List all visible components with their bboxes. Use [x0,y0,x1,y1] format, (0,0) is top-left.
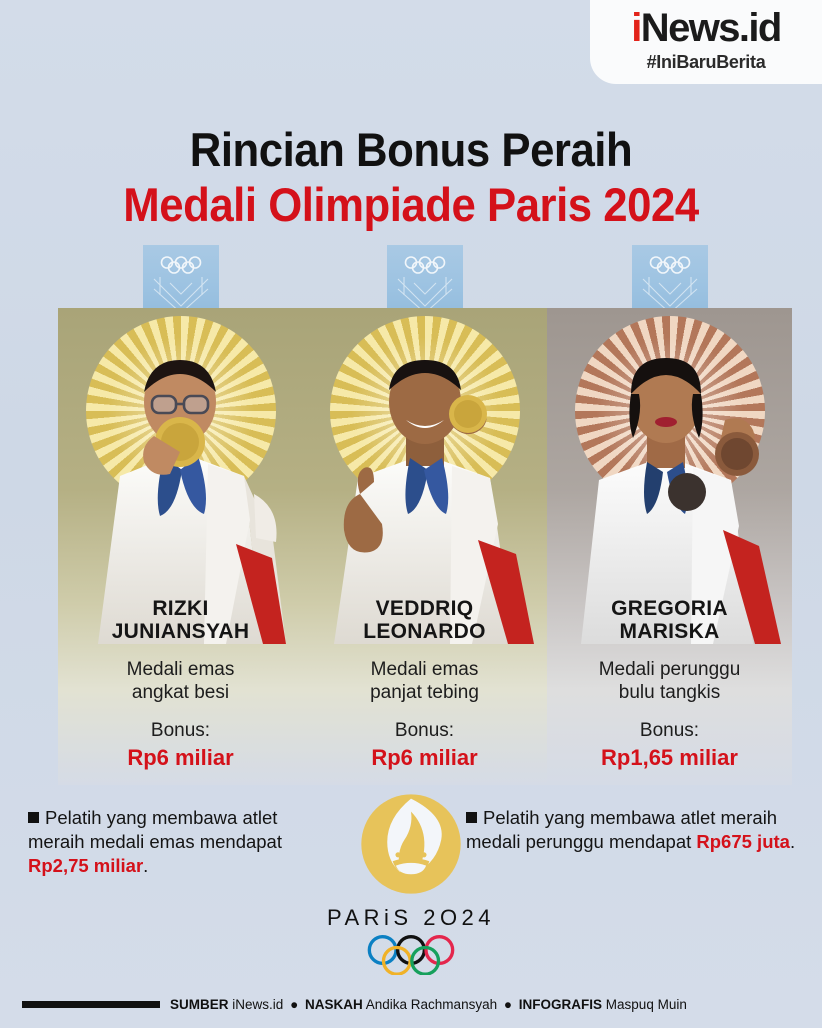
page-title: Rincian Bonus Peraih Medali Olimpiade Pa… [0,126,822,230]
olympic-rings-icon [398,255,452,275]
olympic-ribbon [632,245,708,317]
source-value: iNews.id [232,997,283,1012]
designer-value: Maspuq Muin [606,997,687,1012]
note-period: . [790,831,795,852]
bonus-label: Bonus: [547,720,792,742]
olympic-ribbon [143,245,219,317]
athlete-name: VEDDRIQ LEONARDO [302,598,547,643]
card-body: GREGORIA MARISKA Medali perunggu bulu ta… [547,308,792,785]
writer-label: NASKAH [305,997,363,1012]
bonus-value: Rp6 miliar [58,745,303,771]
card-body: RIZKI JUNIANSYAH Medali emas angkat besi… [58,308,303,785]
logo-name-rest: News.id [641,6,781,50]
medal-description: Medali emas panjat tebing [302,658,547,704]
bonus-label: Bonus: [58,720,303,742]
coach-bonus-note-gold: Pelatih yang membawa atlet meraih medali… [28,806,328,878]
bonus-value: Rp6 miliar [302,745,547,771]
athlete-card: RIZKI JUNIANSYAH Medali emas angkat besi… [58,245,303,785]
card-body: VEDDRIQ LEONARDO Medali emas panjat tebi… [302,308,547,785]
bullet-square-icon [28,812,39,823]
olympic-rings-icon [359,935,463,975]
card-text: RIZKI JUNIANSYAH Medali emas angkat besi… [58,598,303,771]
paris-2024-emblem: PARiS 2O24 [316,790,506,980]
writer-value: Andika Rachmansyah [366,997,497,1012]
card-text: GREGORIA MARISKA Medali perunggu bulu ta… [547,598,792,771]
logo-i-letter: i [631,6,641,50]
separator-dot: ● [501,997,515,1012]
title-line-1: Rincian Bonus Peraih [29,126,793,175]
card-text: VEDDRIQ LEONARDO Medali emas panjat tebi… [302,598,547,771]
title-line-2: Medali Olimpiade Paris 2024 [29,180,793,230]
bonus-label: Bonus: [302,720,547,742]
athlete-cards: RIZKI JUNIANSYAH Medali emas angkat besi… [0,245,822,785]
olympic-rings-icon [643,255,697,275]
athlete-card: GREGORIA MARISKA Medali perunggu bulu ta… [547,245,792,785]
logo-wordmark: iNews.id [631,8,780,48]
athlete-name: GREGORIA MARISKA [547,598,792,643]
note-amount: Rp675 juta [696,831,790,852]
separator-dot: ● [287,997,301,1012]
footer-rule [22,1001,160,1008]
medal-description: Medali emas angkat besi [58,658,303,704]
footer: SUMBER iNews.id ● NASKAH Andika Rachmans… [0,997,822,1012]
source-label: SUMBER [170,997,229,1012]
bonus-value: Rp1,65 miliar [547,745,792,771]
note-amount: Rp2,75 miliar [28,855,143,876]
note-text: Pelatih yang membawa atlet meraih medali… [28,807,282,852]
logo-tagline: #IniBaruBerita [647,52,766,73]
medal-description: Medali perunggu bulu tangkis [547,658,792,704]
coach-bonus-note-bronze: Pelatih yang membawa atlet meraih medali… [466,806,796,854]
athlete-name: RIZKI JUNIANSYAH [58,598,303,643]
emblem-wordmark: PARiS 2O24 [316,905,506,931]
designer-label: INFOGRAFIS [519,997,602,1012]
olympic-rings-icon [154,255,208,275]
inews-logo: iNews.id #IniBaruBerita [590,0,822,84]
note-period: . [143,855,148,876]
athlete-card: VEDDRIQ LEONARDO Medali emas panjat tebi… [302,245,547,785]
olympic-ribbon [387,245,463,317]
paris-flame-icon [357,790,465,898]
footer-credits: SUMBER iNews.id ● NASKAH Andika Rachmans… [170,997,687,1012]
infographic-page: iNews.id #IniBaruBerita Rincian Bonus Pe… [0,0,822,1028]
